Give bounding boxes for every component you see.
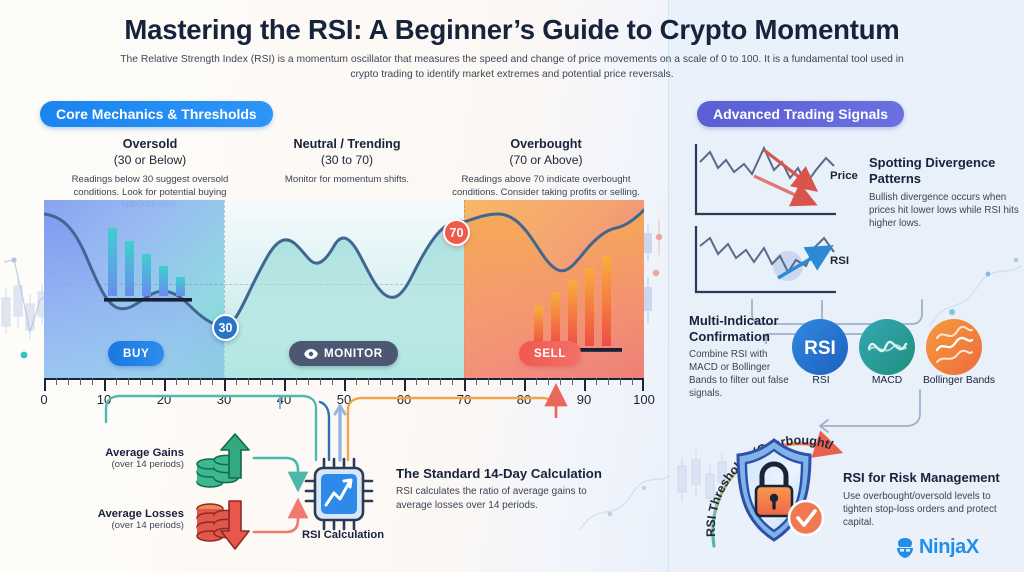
axis-tick-minor <box>212 378 213 385</box>
axis-tick-minor <box>188 378 189 385</box>
coins-down-icon <box>193 495 255 557</box>
axis-tick-minor <box>152 378 153 385</box>
axis-tick-minor <box>440 378 441 385</box>
indicator-badge-bollinger <box>926 319 982 375</box>
rsi-calculation-chip-icon <box>306 459 380 531</box>
action-pill-monitor[interactable]: MONITOR <box>289 341 398 366</box>
threshold-marker-70[interactable]: 70 <box>443 219 470 246</box>
axis-tick-minor <box>548 378 549 385</box>
zone-range-overbought: (70 or Above) <box>443 152 649 168</box>
divergence-desc: Bullish divergence occurs when prices hi… <box>869 191 1019 230</box>
zone-desc-neutral: Monitor for momentum shifts. <box>254 174 440 187</box>
axis-tick-minor <box>68 378 69 385</box>
rsi-calculation-chip-label: RSI Calculation <box>283 529 403 541</box>
label-average-gains: Average Gains (over 14 periods) <box>62 447 184 470</box>
zone-range-oversold: (30 or Below) <box>48 152 252 168</box>
axis-tick-minor <box>500 378 501 385</box>
divergence-title: Spotting Divergence Patterns <box>869 155 1019 187</box>
svg-text:RSI: RSI <box>804 338 836 359</box>
axis-tick-minor <box>272 378 273 385</box>
threshold-marker-30[interactable]: 30 <box>212 314 239 341</box>
risk-shield-graphic: RSI Thresholds (Overbought/Oversold) <box>700 412 850 562</box>
average-losses-title: Average Losses <box>62 508 184 520</box>
rsi-divergence-chart <box>692 222 840 304</box>
axis-tick-minor <box>140 378 141 385</box>
zone-title-overbought: Overbought <box>443 136 649 152</box>
axis-tick-minor <box>488 378 489 385</box>
multi-indicator-desc: Combine RSI with MACD or Bollinger Bands… <box>689 348 793 400</box>
axis-tick-minor <box>92 378 93 385</box>
eye-icon <box>304 349 318 359</box>
axis-tick-minor <box>200 378 201 385</box>
axis-tick-minor <box>620 378 621 385</box>
average-losses-sub: (over 14 periods) <box>62 520 184 531</box>
zone-desc-overbought: Readings above 70 indicate overbought co… <box>443 174 649 199</box>
label-average-losses: Average Losses (over 14 periods) <box>62 508 184 531</box>
indicator-label-rsi: RSI <box>793 375 849 386</box>
axis-tick-minor <box>308 378 309 385</box>
zone-heading-neutral: Neutral / Trending (30 to 70) Monitor fo… <box>254 136 440 187</box>
risk-title: RSI for Risk Management <box>843 470 1023 486</box>
axis-tick-minor <box>596 378 597 385</box>
axis-tick-minor <box>80 378 81 385</box>
axis-tick-minor <box>512 378 513 385</box>
calculation-desc: RSI calculates the ratio of average gain… <box>396 485 624 512</box>
zone-title-oversold: Oversold <box>48 136 252 152</box>
axis-tick-minor <box>560 378 561 385</box>
axis-tick-minor <box>632 378 633 385</box>
axis-tick-minor <box>236 378 237 385</box>
axis-tick-minor <box>428 378 429 385</box>
section-pill-core-mechanics[interactable]: Core Mechanics & Thresholds <box>40 101 273 127</box>
axis-tick-minor <box>572 378 573 385</box>
indicator-badges: RSI <box>790 318 990 376</box>
coins-up-icon <box>193 432 255 494</box>
axis-tick-minor <box>128 378 129 385</box>
zone-heading-overbought: Overbought (70 or Above) Readings above … <box>443 136 649 199</box>
zone-title-neutral: Neutral / Trending <box>254 136 440 152</box>
section-pill-advanced-signals[interactable]: Advanced Trading Signals <box>697 101 904 127</box>
axis-tick-minor <box>332 378 333 385</box>
decorative-candlestick-chart <box>0 250 48 370</box>
axis-tick-minor <box>176 378 177 385</box>
page-title: Mastering the RSI: A Beginner’s Guide to… <box>0 14 1024 46</box>
risk-desc: Use overbought/oversold levels to tighte… <box>843 490 1021 529</box>
price-divergence-chart <box>692 140 840 222</box>
divergence-price-label: Price <box>830 170 858 182</box>
divergence-rsi-label: RSI <box>830 255 849 267</box>
axis-tick-minor <box>320 378 321 385</box>
indicator-label-bollinger: Bollinger Bands <box>903 375 1015 386</box>
action-pill-monitor-label: MONITOR <box>324 347 383 360</box>
indicator-badge-macd <box>859 319 915 375</box>
ninja-mask-icon <box>894 537 916 559</box>
axis-tick-minor <box>296 378 297 385</box>
zone-range-neutral: (30 to 70) <box>254 152 440 168</box>
axis-tick-minor <box>536 378 537 385</box>
axis-tick-minor <box>368 378 369 385</box>
axis-tick-minor <box>380 378 381 385</box>
axis-tick-minor <box>392 378 393 385</box>
brand-logo[interactable]: NinjaX <box>894 536 979 559</box>
action-pill-sell[interactable]: SELL <box>519 341 581 366</box>
page-subtitle: The Relative Strength Index (RSI) is a m… <box>112 52 912 82</box>
axis-tick-minor <box>356 378 357 385</box>
axis-tick-minor <box>608 378 609 385</box>
axis-tick-minor <box>56 378 57 385</box>
brand-name: NinjaX <box>919 536 979 559</box>
multi-indicator-title: Multi-Indicator Confirmation <box>689 313 795 345</box>
average-gains-title: Average Gains <box>62 447 184 459</box>
axis-tick-minor <box>116 378 117 385</box>
calculation-title: The Standard 14-Day Calculation <box>396 466 646 481</box>
axis-tick-minor <box>452 378 453 385</box>
average-gains-sub: (over 14 periods) <box>62 459 184 470</box>
axis-tick-minor <box>416 378 417 385</box>
inset-bars-falling <box>104 228 192 302</box>
axis-tick-minor <box>476 378 477 385</box>
axis-tick-minor <box>248 378 249 385</box>
action-pill-buy[interactable]: BUY <box>108 341 164 366</box>
axis-tick-minor <box>260 378 261 385</box>
infographic-canvas: Mastering the RSI: A Beginner’s Guide to… <box>0 0 1024 572</box>
